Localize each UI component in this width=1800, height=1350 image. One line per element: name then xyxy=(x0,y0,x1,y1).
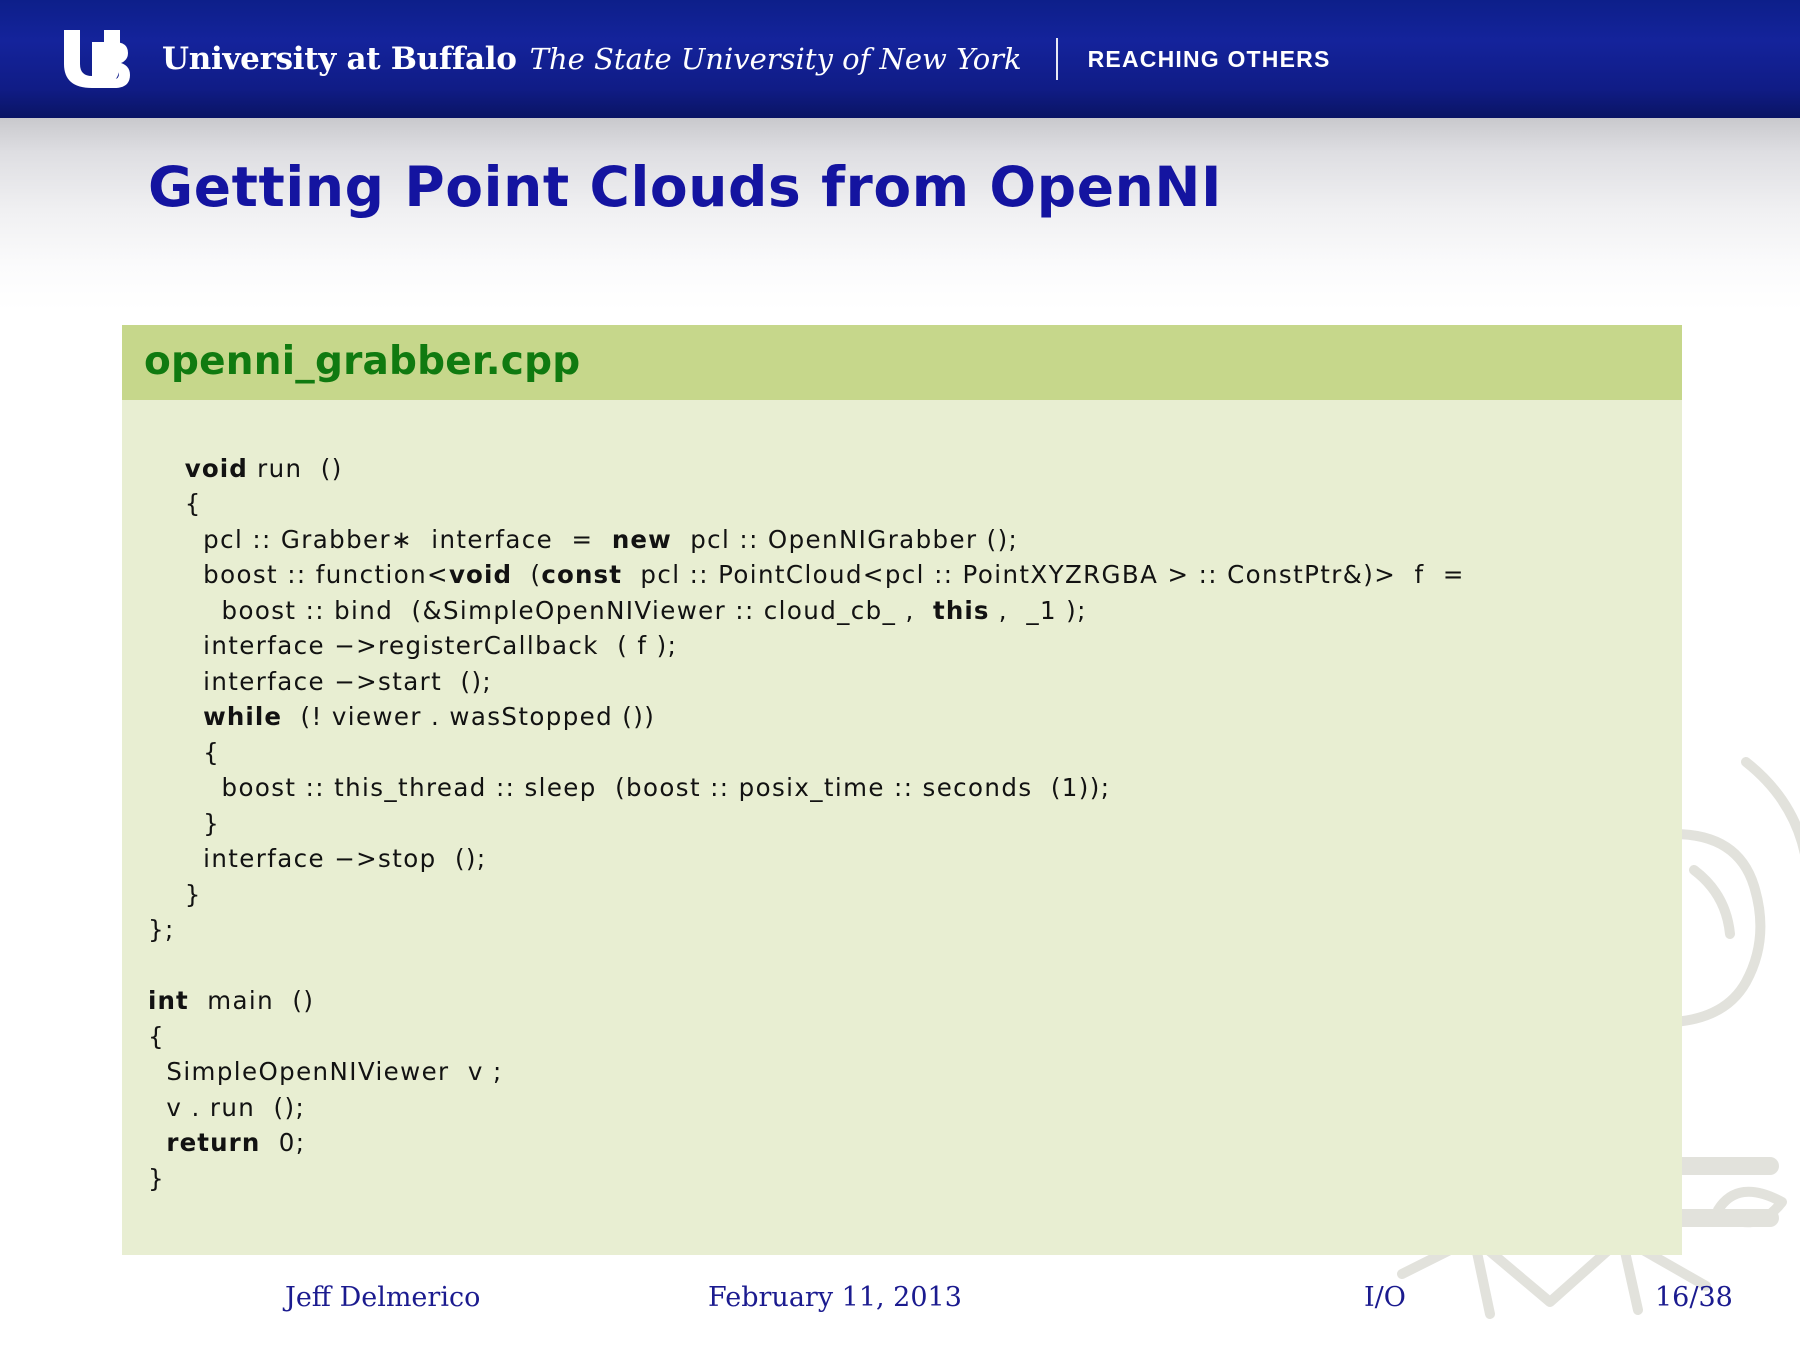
code-line: }; xyxy=(148,912,1682,948)
code-keyword: int xyxy=(148,986,189,1015)
code-keyword: void xyxy=(449,560,512,589)
code-keyword: while xyxy=(203,702,282,731)
code-text: SimpleOpenNIViewer v ; xyxy=(166,1057,502,1086)
footer-date: February 11, 2013 xyxy=(708,1282,962,1313)
code-block: openni_grabber.cpp void run () { pcl :: … xyxy=(122,325,1682,1255)
ub-header-banner: University at Buffalo The State Universi… xyxy=(0,0,1800,118)
code-line: SimpleOpenNIViewer v ; xyxy=(148,1054,1682,1090)
code-line: while (! viewer . wasStopped ()) xyxy=(148,699,1682,735)
code-line: v . run (); xyxy=(148,1090,1682,1126)
code-line: boost :: this_thread :: sleep (boost :: … xyxy=(148,770,1682,806)
code-text: { xyxy=(185,489,202,518)
code-text: boost :: bind (&SimpleOpenNIViewer :: cl… xyxy=(222,596,934,625)
code-line: return 0; xyxy=(148,1125,1682,1161)
code-line: int main () xyxy=(148,983,1682,1019)
banner-divider xyxy=(1056,38,1058,80)
footer-section: I/O xyxy=(1364,1282,1406,1313)
code-text: } xyxy=(185,880,202,909)
code-text: v . run (); xyxy=(166,1093,305,1122)
code-line: { xyxy=(148,735,1682,771)
code-text: } xyxy=(203,809,220,838)
code-text: { xyxy=(203,738,220,767)
code-text: ( xyxy=(512,560,541,589)
code-line: void run () xyxy=(148,451,1682,487)
code-line: pcl :: Grabber∗ interface = new pcl :: O… xyxy=(148,522,1682,558)
code-listing: void run () { pcl :: Grabber∗ interface … xyxy=(122,451,1682,1197)
code-text: pcl :: OpenNIGrabber (); xyxy=(672,525,1018,554)
code-line: } xyxy=(148,877,1682,913)
code-keyword: new xyxy=(612,525,672,554)
code-text: interface −>start (); xyxy=(203,667,492,696)
university-tagline: The State University of New York xyxy=(530,42,1022,76)
code-text: (! viewer . wasStopped ()) xyxy=(282,702,655,731)
code-keyword: const xyxy=(541,560,622,589)
code-keyword: void xyxy=(185,454,248,483)
university-name: University at Buffalo xyxy=(162,41,517,77)
code-line: interface −>stop (); xyxy=(148,841,1682,877)
code-text: }; xyxy=(148,915,175,944)
code-line: } xyxy=(148,1161,1682,1197)
code-line xyxy=(148,948,1682,984)
code-text: interface −>registerCallback ( f ); xyxy=(203,631,677,660)
code-text: main () xyxy=(189,986,314,1015)
code-text: pcl :: PointCloud<pcl :: PointXYZRGBA > … xyxy=(622,560,1465,589)
code-line: boost :: function<void (const pcl :: Poi… xyxy=(148,557,1682,593)
slide-footer: Jeff Delmerico February 11, 2013 I/O 16/… xyxy=(0,1282,1800,1322)
ub-logo-icon xyxy=(52,24,148,94)
banner-content: University at Buffalo The State Universi… xyxy=(52,0,1331,118)
code-keyword: this xyxy=(933,596,990,625)
code-text: 0; xyxy=(260,1128,305,1157)
campaign-label: REACHING OTHERS xyxy=(1088,46,1331,73)
page-title: Getting Point Clouds from OpenNI xyxy=(148,155,1222,219)
code-block-title: openni_grabber.cpp xyxy=(122,325,1682,400)
code-text: boost :: function< xyxy=(203,560,449,589)
footer-author: Jeff Delmerico xyxy=(285,1282,480,1313)
code-line: boost :: bind (&SimpleOpenNIViewer :: cl… xyxy=(148,593,1682,629)
code-text: run () xyxy=(248,454,343,483)
code-line: { xyxy=(148,1019,1682,1055)
code-text: interface −>stop (); xyxy=(203,844,486,873)
code-line: interface −>registerCallback ( f ); xyxy=(148,628,1682,664)
code-line: } xyxy=(148,806,1682,842)
code-block-body: void run () { pcl :: Grabber∗ interface … xyxy=(122,400,1682,1255)
code-text: { xyxy=(148,1022,165,1051)
code-text: boost :: this_thread :: sleep (boost :: … xyxy=(222,773,1111,802)
code-line: { xyxy=(148,486,1682,522)
code-line: interface −>start (); xyxy=(148,664,1682,700)
code-keyword: return xyxy=(166,1128,260,1157)
footer-page-number: 16/38 xyxy=(1655,1282,1733,1313)
code-text: , _1 ); xyxy=(990,596,1087,625)
code-text: } xyxy=(148,1164,165,1193)
code-text: pcl :: Grabber∗ interface = xyxy=(203,525,612,554)
